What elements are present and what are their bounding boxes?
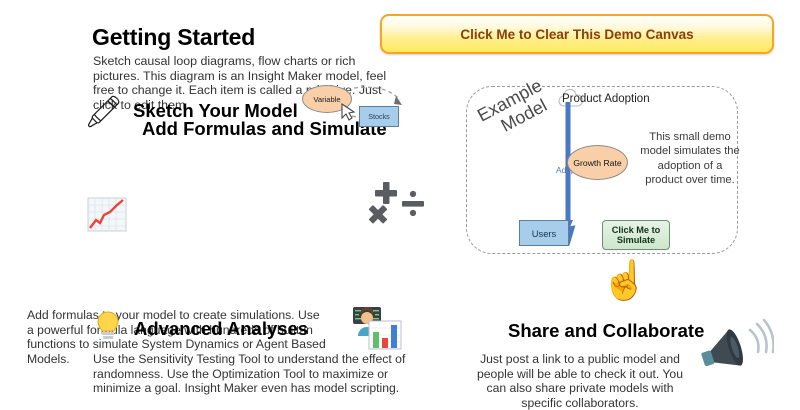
share-and-collaborate-heading: Share and Collaborate	[508, 320, 704, 342]
users-stock-label: Users	[532, 228, 556, 239]
megaphone-icon	[700, 318, 774, 384]
variable-primitive-label: Variable	[313, 95, 340, 104]
mouse-cursor-icon	[340, 103, 356, 123]
simulate-button[interactable]: Click Me to Simulate	[602, 220, 670, 250]
clear-demo-canvas-label: Click Me to Clear This Demo Canvas	[460, 27, 693, 42]
bar-chart-icon	[368, 320, 402, 350]
pointing-up-hand-icon: ☝	[601, 262, 648, 300]
growth-rate-variable[interactable]: Growth Rate	[567, 145, 628, 180]
page-title: Getting Started	[92, 24, 255, 51]
math-operators-icon	[368, 180, 428, 238]
lightbulb-icon	[95, 310, 121, 342]
demo-model-description: This small demo model simulates the adop…	[638, 130, 742, 188]
writing-hand-icon: 🖍	[84, 96, 123, 127]
share-and-collaborate-paragraph: Just post a link to a public model and p…	[466, 352, 694, 410]
stock-primitive[interactable]: Stocks	[359, 106, 399, 127]
advanced-analyses-heading: Advanced Analyses	[134, 318, 308, 340]
stock-primitive-label: Stocks	[368, 112, 390, 121]
clear-demo-canvas-button[interactable]: Click Me to Clear This Demo Canvas	[380, 14, 774, 54]
users-stock[interactable]: Users	[519, 220, 569, 246]
growth-rate-label: Growth Rate	[573, 158, 621, 168]
simulate-button-line1: Click Me to	[612, 225, 661, 236]
chart-increasing-icon	[86, 196, 130, 234]
simulate-button-line2: Simulate	[617, 235, 655, 246]
advanced-analyses-paragraph: Use the Sensitivity Testing Tool to unde…	[93, 352, 415, 396]
